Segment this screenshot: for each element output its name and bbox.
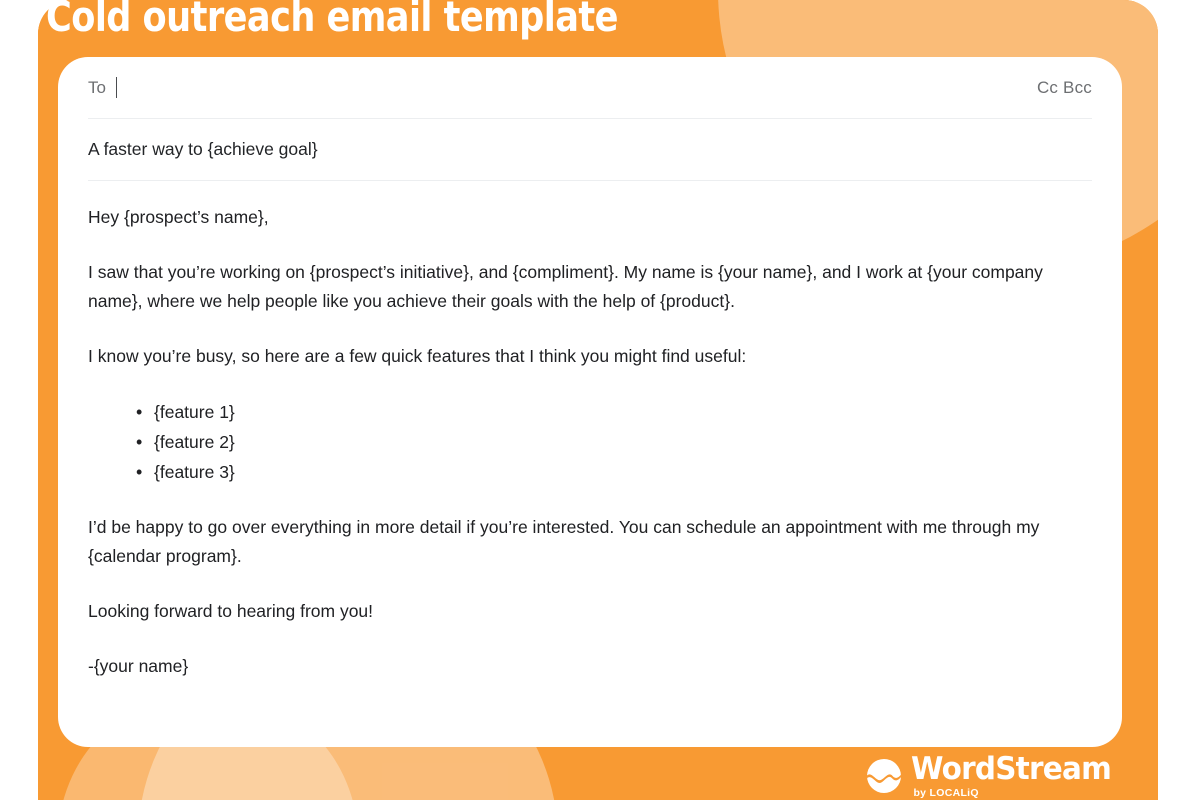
body-paragraph-1: I saw that you’re working on {prospect’s… (88, 258, 1092, 316)
wordstream-text-block: WordStream by LOCALiQ (911, 754, 1122, 799)
page-title: Cold outreach email template (46, 0, 618, 41)
feature-bullet-list: {feature 1} {feature 2} {feature 3} (88, 397, 1092, 487)
wordstream-circle-wave-icon (866, 758, 902, 794)
wordstream-logo: WordStream by LOCALiQ (866, 754, 1122, 799)
list-item: {feature 3} (154, 457, 1092, 487)
body-paragraph-3: I’d be happy to go over everything in mo… (88, 513, 1092, 571)
subject-input[interactable]: A faster way to {achieve goal} (88, 139, 318, 160)
body-paragraph-2: I know you’re busy, so here are a few qu… (88, 342, 1092, 371)
to-input[interactable]: To (88, 77, 1037, 98)
email-composer-card: To Cc Bcc A faster way to {achieve goal}… (58, 57, 1122, 747)
body-signature: -{your name} (88, 652, 1092, 681)
body-greeting: Hey {prospect’s name}, (88, 203, 1092, 232)
list-item: {feature 2} (154, 427, 1092, 457)
body-paragraph-4: Looking forward to hearing from you! (88, 597, 1092, 626)
to-field-row[interactable]: To Cc Bcc (88, 57, 1092, 119)
wordstream-wordmark: WordStream (911, 754, 1111, 785)
wordstream-byline: by LOCALiQ (913, 788, 978, 799)
to-label: To (88, 78, 106, 98)
list-item: {feature 1} (154, 397, 1092, 427)
cc-bcc-toggle[interactable]: Cc Bcc (1037, 78, 1092, 98)
email-body[interactable]: Hey {prospect’s name}, I saw that you’re… (88, 181, 1092, 681)
text-cursor-icon (116, 77, 118, 98)
subject-field-row[interactable]: A faster way to {achieve goal} (88, 119, 1092, 181)
